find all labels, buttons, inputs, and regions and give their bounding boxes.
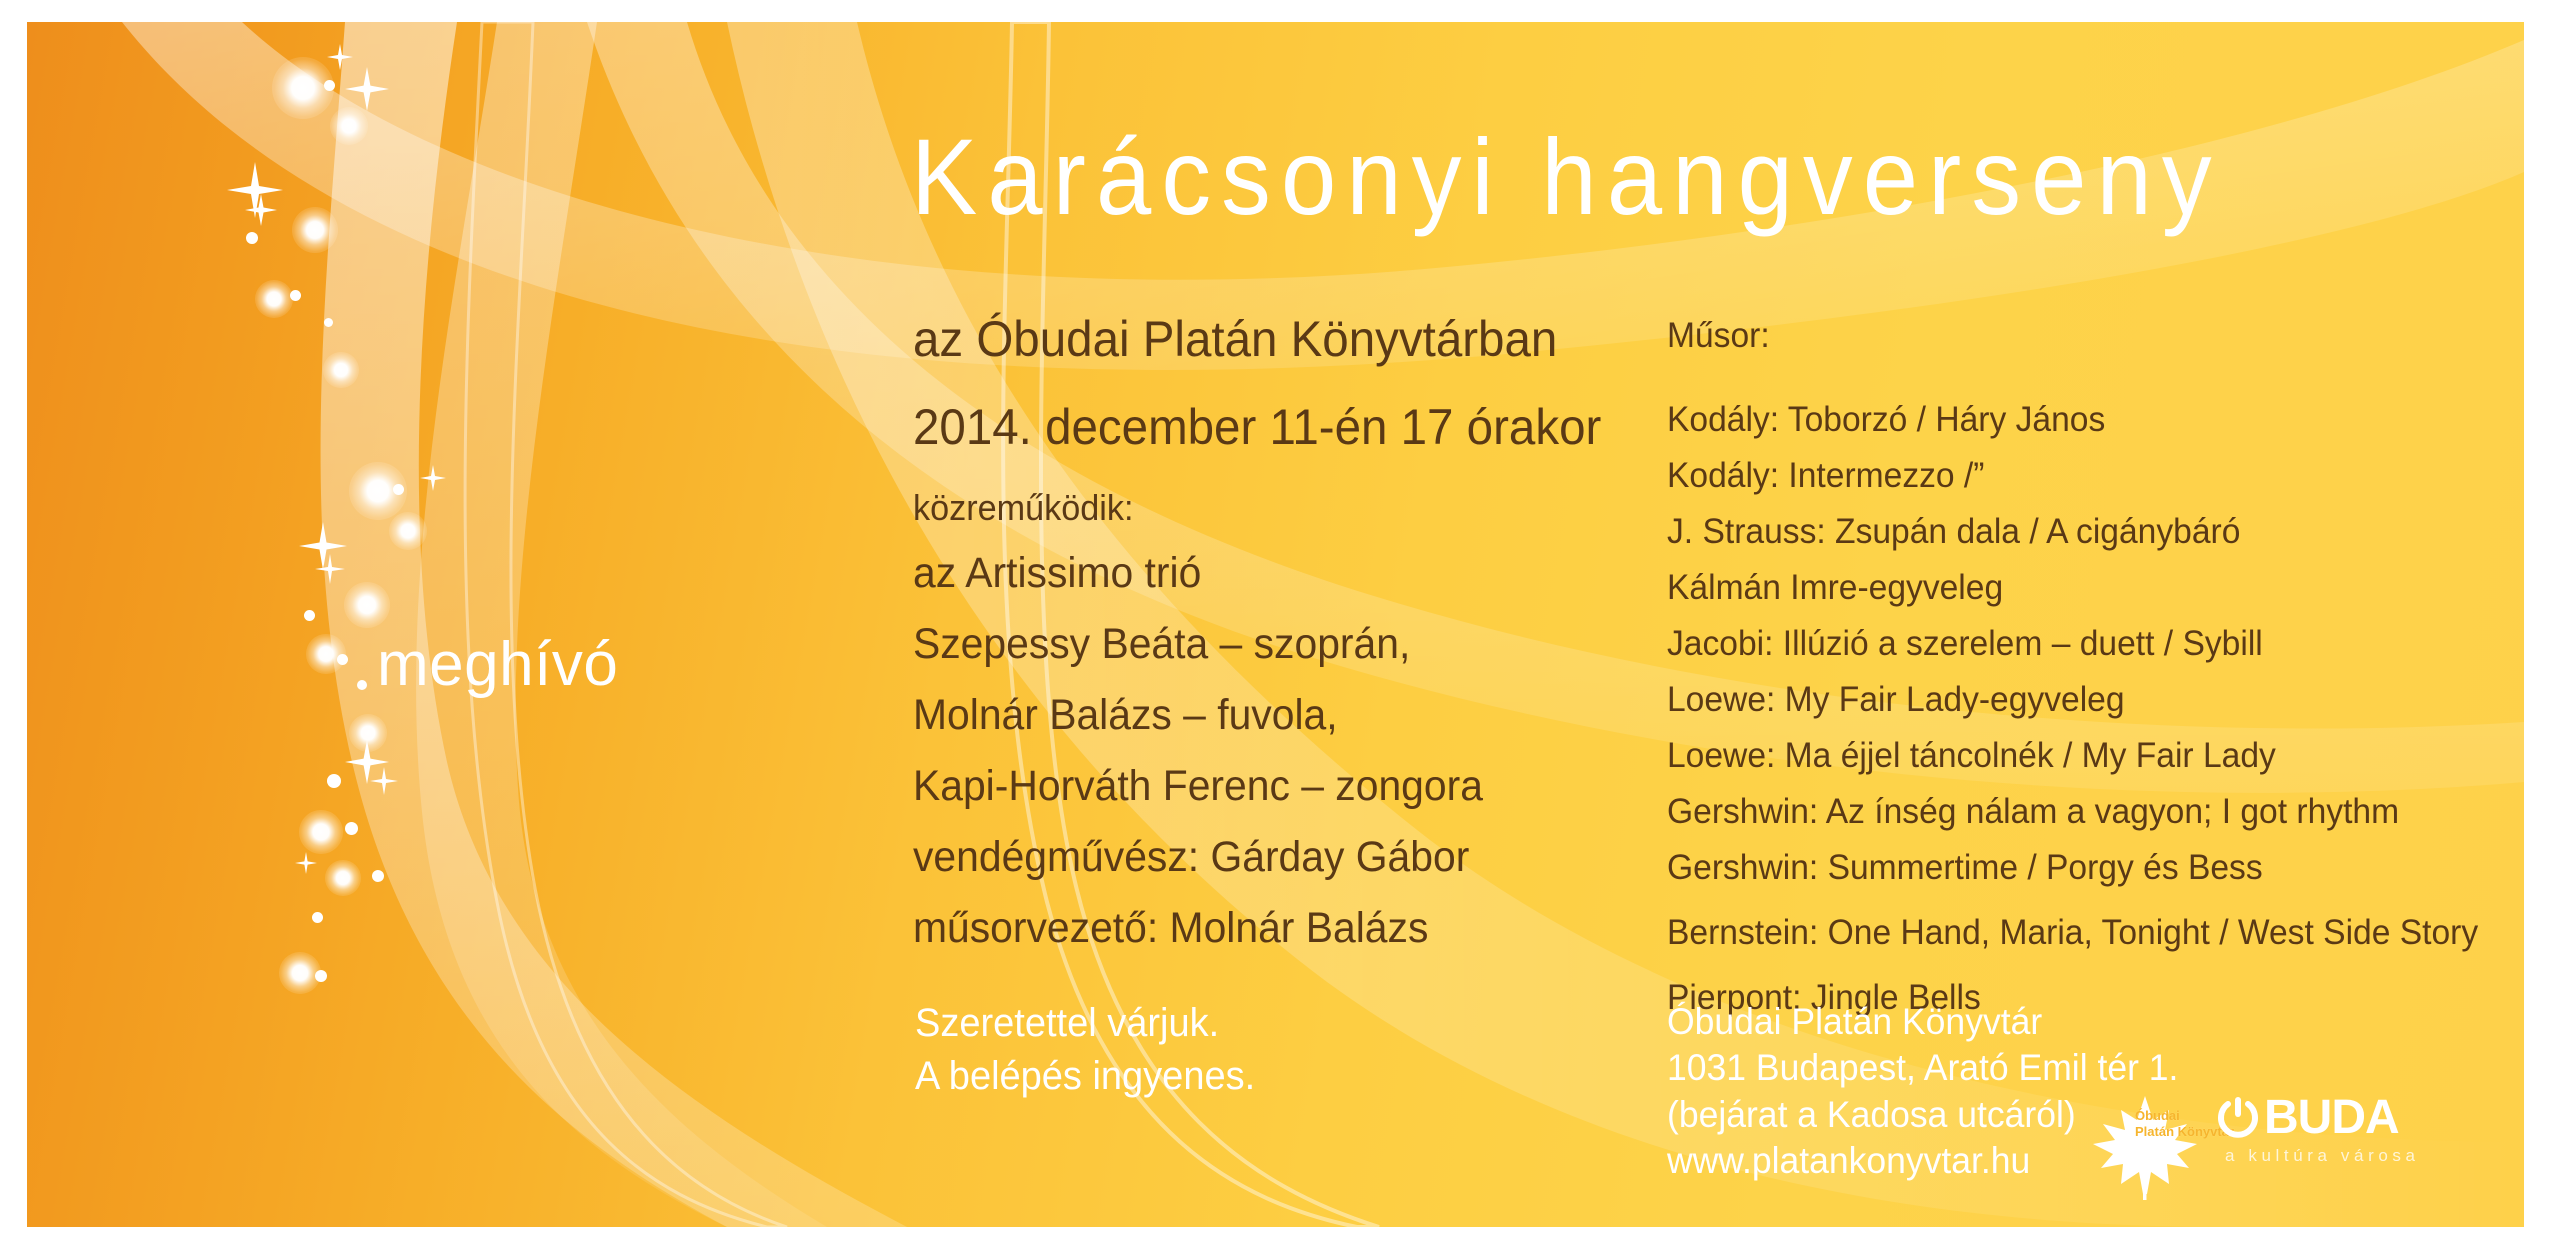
event-details-column: az Óbudai Platán Könyvtárban 2014. decem… [913,314,1653,978]
sparkle-dot [246,232,258,244]
sparkle-star-icon [345,67,389,111]
performer-item: Kapi-Horváth Ferenc – zongora [913,765,1616,808]
obuda-wordmark: BUDA [2215,1094,2420,1142]
program-item: Jacobi: Illúzió a szerelem – duett / Syb… [1667,626,2454,661]
library-logo: Óbudai Platán Könyvtár [2085,1090,2205,1200]
welcome-line: Szeretettel várjuk. [915,997,1255,1050]
sparkle-star-icon [295,852,317,874]
address-line: 1031 Budapest, Arató Emil tér 1. [1667,1045,2178,1091]
venue-line: az Óbudai Platán Könyvtárban [913,314,1616,364]
sparkle-glow [292,207,338,253]
program-label: Műsor: [1667,316,2454,356]
program-column: Műsor: Kodály: Toborzó / Háry János Kodá… [1667,316,2487,1036]
sparkle-glow [330,107,368,145]
sparkle-dot [315,970,327,982]
sparkle-star-icon [245,194,277,226]
address-line: Óbudai Platán Könyvtár [1667,999,2178,1045]
sparkle-dot [337,654,348,665]
sparkle-star-icon [345,740,389,784]
program-item: Kodály: Toborzó / Háry János [1667,402,2454,437]
sparkle-star-icon [227,162,283,218]
sparkle-glow [306,634,346,674]
sparkle-glow [255,280,293,318]
sparkle-dot [324,80,335,91]
program-item: Gershwin: Summertime / Porgy és Bess [1667,850,2454,885]
sparkle-dot [312,912,323,923]
invitation-poster: meghívó Karácsonyi hangverseny az Óbudai… [0,0,2551,1252]
program-item: Bernstein: One Hand, Maria, Tonight / We… [1667,915,2454,950]
welcome-line: A belépés ingyenes. [915,1050,1255,1103]
sparkle-star-icon [315,554,345,584]
program-item: Gershwin: Az ínség nálam a vagyon; I got… [1667,794,2454,829]
sparkle-dot [324,318,333,327]
sparkle-glow [344,582,390,628]
sparkle-glow [279,952,321,994]
welcome-note: Szeretettel várjuk. A belépés ingyenes. [915,997,1255,1103]
program-item: Kodály: Intermezzo /” [1667,458,2454,493]
meghivo-label: meghívó [377,629,618,700]
program-item: Kálmán Imre-egyveleg [1667,570,2454,605]
sparkle-star-icon [370,767,398,795]
sparkle-glow [323,352,359,388]
datetime-line: 2014. december 11-én 17 órakor [913,402,1616,452]
sparkle-glow [389,512,427,550]
sparkle-dot [372,870,384,882]
sparkle-glow [299,810,343,854]
sparkle-dot [304,610,315,621]
logo-group: Óbudai Platán Könyvtár BUDA a kultúra vá… [2085,1090,2405,1200]
sparkle-glow [325,860,361,896]
sparkle-star-icon [327,44,353,70]
sparkle-glow [272,57,334,119]
sparkle-dot [393,484,404,495]
sparkle-dot [327,774,341,788]
sparkle-glow [349,714,387,752]
sparkle-star-icon [420,465,446,491]
obuda-name: BUDA [2264,1094,2399,1142]
performer-item: Molnár Balázs – fuvola, [913,694,1616,737]
guest-artist-line: vendégművész: Gárday Gábor [913,836,1616,879]
sparkle-dot [345,822,358,835]
maple-leaf-icon [2085,1090,2205,1200]
ensemble-name: az Artissimo trió [913,552,1616,595]
sparkle-glow [349,462,407,520]
program-item: Loewe: Ma éjjel táncolnék / My Fair Lady [1667,738,2454,773]
sparkle-dot [357,680,367,690]
obuda-tagline: a kultúra városa [2225,1146,2420,1166]
performer-item: Szepessy Beáta – szoprán, [913,623,1616,666]
program-item: Loewe: My Fair Lady-egyveleg [1667,682,2454,717]
performers-label: közreműködik: [913,490,1616,526]
sparkle-dot [290,290,301,301]
host-line: műsorvezető: Molnár Balázs [913,907,1616,950]
page-title: Karácsonyi hangverseny [911,114,2222,239]
poster-background: meghívó Karácsonyi hangverseny az Óbudai… [27,22,2524,1227]
power-symbol-icon [2215,1095,2261,1141]
sparkle-star-icon [299,522,347,570]
obuda-logo: BUDA a kultúra városa [2215,1094,2420,1166]
program-item: J. Strauss: Zsupán dala / A cigánybáró [1667,514,2454,549]
